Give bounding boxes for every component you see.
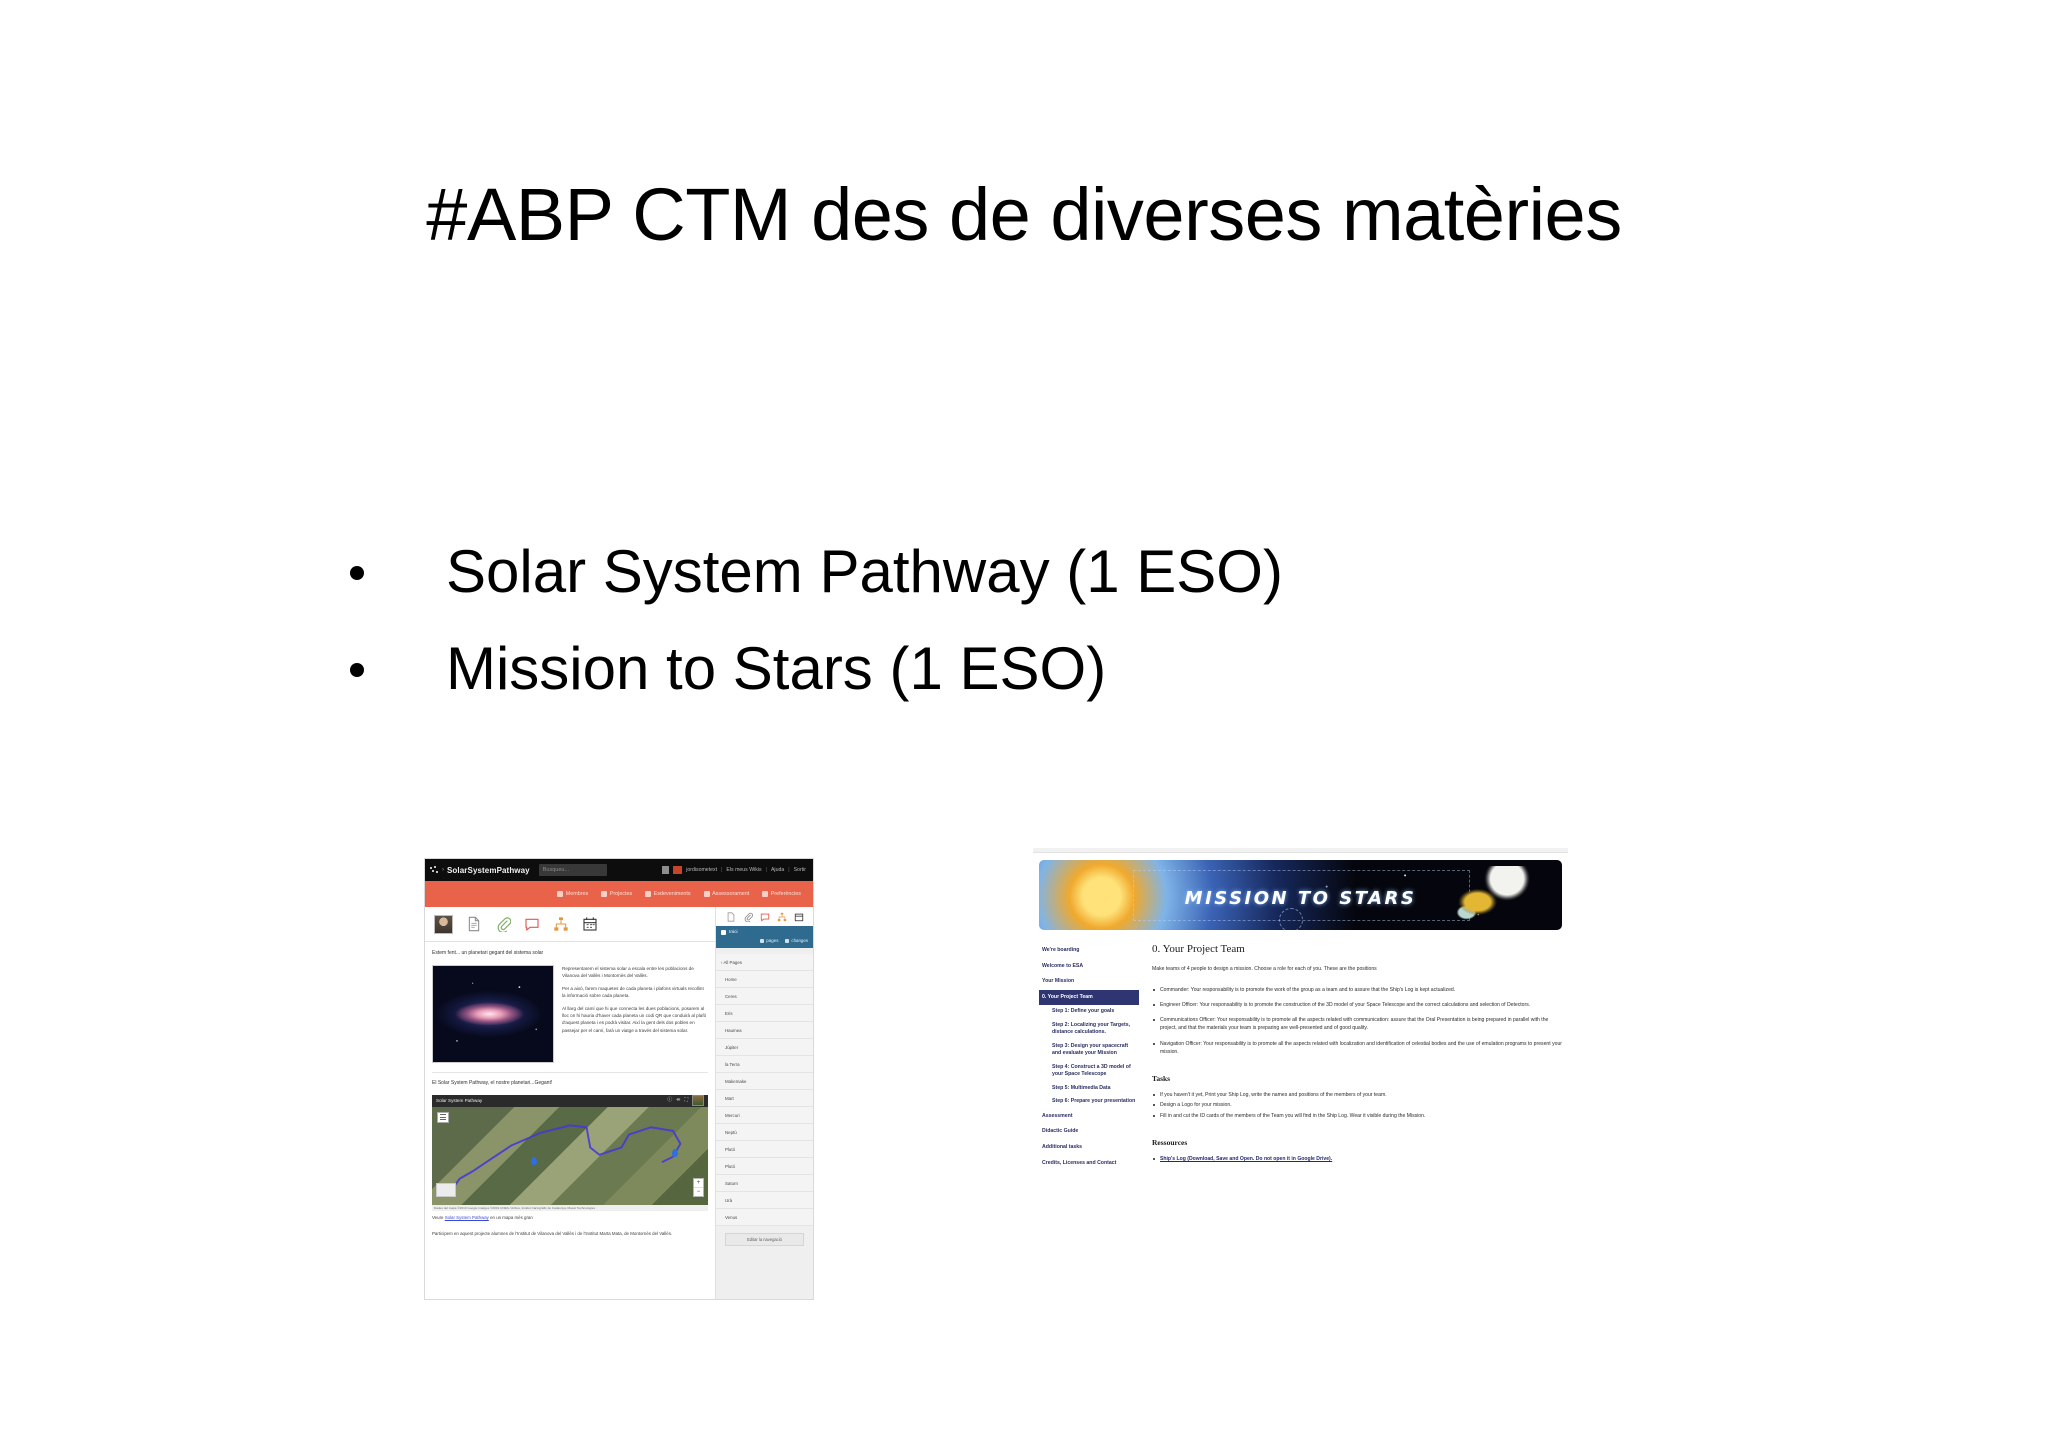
paragraph: Representarem el sistema solar a escala … — [562, 965, 708, 979]
list-item[interactable]: Mart — [716, 1090, 813, 1107]
sidebar-item-your-mission[interactable]: Your Mission — [1039, 974, 1139, 990]
wiki-body: Estem fent... un planetari gegant del si… — [425, 907, 813, 1299]
roles-list: Commander: Your responsability is to pro… — [1152, 986, 1562, 1057]
avatar-icon[interactable] — [434, 915, 453, 934]
tasks-list: If you haven't it yet, Print your Ship L… — [1152, 1091, 1562, 1120]
sitemap-icon[interactable] — [777, 912, 787, 922]
tasks-heading: Tasks — [1152, 1074, 1562, 1083]
sidebar-item-step-1[interactable]: Step 1: Define your goals — [1039, 1005, 1139, 1019]
zoom-out-button[interactable]: − — [694, 1188, 703, 1196]
map-header: Solar System Pathway ⓘ ⇚ ⛶ — [432, 1095, 708, 1107]
browser-chrome-strip — [1033, 848, 1568, 853]
my-wikis-link[interactable]: Els meus Wikis — [726, 867, 761, 873]
logout-link[interactable]: Sortir — [794, 867, 806, 873]
content-heading: Estem fent... un planetari gegant del si… — [432, 950, 708, 958]
calendar-icon — [645, 891, 651, 897]
list-item: Fill in and cut the ID cards of the memb… — [1152, 1112, 1562, 1120]
nav-label: Projectes — [610, 891, 632, 897]
sidebar-home-title-row: Inici — [721, 930, 808, 935]
wiki-brand[interactable]: SolarSystemPathway — [447, 866, 530, 875]
list-item[interactable]: la Terra — [716, 1056, 813, 1073]
search-placeholder: Busqueu... — [543, 867, 569, 873]
sidebar-panel-buttons: pages changes — [721, 938, 808, 943]
sidebar-item-additional-tasks[interactable]: Additional tasks — [1039, 1140, 1139, 1156]
projects-icon — [601, 891, 607, 897]
paperclip-icon[interactable] — [743, 912, 753, 922]
sidebar-item-assessment[interactable]: Assessment — [1039, 1109, 1139, 1125]
changes-icon — [785, 939, 789, 943]
share-icon[interactable]: ⇚ — [676, 1097, 680, 1105]
bullet-list: Solar System Pathway (1 ESO) Mission to … — [350, 540, 1750, 734]
site-banner: MISSION TO STARS — [1039, 860, 1562, 930]
map-route — [432, 1107, 708, 1197]
sidebar-item-credits[interactable]: Credits, Licenses and Contact — [1039, 1156, 1139, 1172]
map-title: Solar System Pathway — [436, 1097, 482, 1104]
list-item[interactable]: Home — [716, 971, 813, 988]
list-item[interactable]: Venus — [716, 1209, 813, 1226]
messages-icon[interactable] — [673, 866, 682, 874]
sidebar-item-didactic-guide[interactable]: Didactic Guide — [1039, 1124, 1139, 1140]
paperclip-icon[interactable] — [495, 916, 511, 932]
sidebar-item-step-5[interactable]: Step 5: Multimedia Data — [1039, 1082, 1139, 1096]
sidebar-page-list: › All Pages Home Ceres Eris Haumea Júpit… — [716, 954, 813, 1246]
banner-reticle-icon — [1279, 908, 1303, 930]
map-tools: ⓘ ⇚ ⛶ — [667, 1095, 704, 1106]
list-item[interactable]: Haumea — [716, 1022, 813, 1039]
sitemap-icon[interactable] — [553, 916, 569, 932]
calendar-icon[interactable] — [582, 916, 598, 932]
bullet-dot-icon — [350, 566, 364, 580]
comment-icon[interactable] — [524, 916, 540, 932]
gear-icon — [762, 891, 768, 897]
sidebar-item-your-project-team[interactable]: 0. Your Project Team — [1039, 990, 1139, 1006]
separator: | — [721, 867, 722, 873]
nav-label: Assessorament — [712, 891, 749, 897]
nav-label: Membres — [566, 891, 588, 897]
map-link-caption: Veure Solar System Pathway en un mapa mé… — [432, 1215, 708, 1222]
pages-button[interactable]: pages — [760, 938, 778, 943]
site-sidebar: We're boarding Welcome to ESA Your Missi… — [1039, 943, 1139, 1171]
wiki-main-column: Estem fent... un planetari gegant del si… — [425, 907, 715, 1299]
wiki-sidebar: Inici pages changes › All Pages Home Cer… — [715, 907, 813, 1299]
calendar-icon[interactable] — [794, 912, 804, 922]
map-logo — [436, 1183, 456, 1197]
separator: | — [788, 867, 789, 873]
map-thumbnail-icon[interactable] — [692, 1095, 704, 1106]
slide: #ABP CTM des de diverses matèries Solar … — [0, 0, 2048, 1447]
home-icon — [721, 930, 726, 935]
page-icon[interactable] — [466, 916, 482, 932]
galaxy-image — [432, 965, 554, 1063]
map-link-suffix: en un mapa més gran — [489, 1215, 533, 1220]
edit-navigation-button[interactable]: Editar la navegació — [725, 1233, 804, 1246]
sidebar-item-welcome-to-esa[interactable]: Welcome to ESA — [1039, 959, 1139, 975]
search-input[interactable]: Busqueu... — [539, 864, 607, 876]
page-footer-note: Participem en aquest projecte alumnes de… — [432, 1231, 708, 1238]
separator: | — [766, 867, 767, 873]
ships-log-link[interactable]: Ship's Log (Download, Save and Open. Do … — [1160, 1156, 1332, 1162]
site-main: 0. Your Project Team Make teams of 4 peo… — [1139, 943, 1562, 1171]
zoom-in-button[interactable]: + — [694, 1179, 703, 1188]
changes-button[interactable]: changes — [785, 938, 808, 943]
list-item: Engineer Officer: Your responsability is… — [1152, 1001, 1562, 1009]
nav-item-assessment[interactable]: Assessorament — [704, 891, 750, 897]
list-item[interactable]: Plutó — [716, 1158, 813, 1175]
list-item: Commander: Your responsability is to pro… — [1152, 986, 1562, 994]
map-attribution: Dades del mapa ©2019 Google Imatges ©201… — [432, 1205, 708, 1211]
nav-item-members[interactable]: Membres — [557, 891, 588, 897]
map-pin[interactable] — [672, 1149, 678, 1157]
bullet-label: Mission to Stars (1 ESO) — [446, 637, 1106, 702]
sidebar-icon-row — [716, 907, 813, 926]
nav-item-preferences[interactable]: Preferències — [762, 891, 801, 897]
user-name[interactable]: jordisometext — [686, 867, 717, 873]
bullet-dot-icon — [350, 663, 364, 677]
sidebar-item-step-2[interactable]: Step 2: Localizing your Targets, distanc… — [1039, 1019, 1139, 1040]
banner-wordmark: MISSION TO STARS — [1039, 888, 1562, 909]
list-item: If you haven't it yet, Print your Ship L… — [1152, 1091, 1562, 1099]
list-item[interactable]: Plutó — [716, 1141, 813, 1158]
sidebar-home-title: Inici — [729, 930, 738, 935]
map-link[interactable]: Solar System Pathway — [445, 1215, 489, 1220]
nav-item-projects[interactable]: Projectes — [601, 891, 632, 897]
map-link-prefix: Veure — [432, 1215, 445, 1220]
content-paragraphs: Representarem el sistema solar a escala … — [562, 965, 708, 1040]
resources-heading: Ressources — [1152, 1138, 1562, 1147]
page-icon[interactable] — [726, 912, 736, 922]
wiki-navbar: Membres Projectes Esdeveniments Assessor… — [425, 881, 813, 907]
list-item[interactable]: Saturn — [716, 1175, 813, 1192]
sidebar-home-panel: Inici pages changes — [716, 926, 813, 948]
screenshot-solar-system-pathway: › SolarSystemPathway Busqueu... jordisom… — [424, 858, 814, 1300]
list-item: Solar System Pathway (1 ESO) — [350, 540, 1750, 605]
help-link[interactable]: Ajuda — [771, 867, 784, 873]
bullet-label: Solar System Pathway (1 ESO) — [446, 540, 1283, 605]
map-zoom-controls[interactable]: + − — [693, 1178, 704, 1197]
paragraph: Per a això, farem maquetes de cada plane… — [562, 985, 708, 999]
page-toolbar — [425, 907, 715, 942]
list-item: Navigation Officer: Your responsability … — [1152, 1040, 1562, 1057]
pages-icon — [760, 939, 764, 943]
list-item: Communications Officer: Your responsabil… — [1152, 1016, 1562, 1033]
page-title: 0. Your Project Team — [1152, 943, 1562, 955]
sidebar-item-step-6[interactable]: Step 6: Prepare your presentation — [1039, 1095, 1139, 1109]
breadcrumb-caret-icon: › — [442, 867, 444, 873]
sidebar-item-were-boarding[interactable]: We're boarding — [1039, 943, 1139, 959]
assessment-icon — [704, 891, 710, 897]
wiki-logo-icon — [430, 866, 439, 875]
embedded-map[interactable]: Solar System Pathway ⓘ ⇚ ⛶ — [432, 1095, 708, 1211]
notifications-icon[interactable] — [662, 866, 669, 874]
members-icon — [557, 891, 563, 897]
content-row: Representarem el sistema solar a escala … — [432, 965, 708, 1063]
page-content: Estem fent... un planetari gegant del si… — [425, 942, 715, 1238]
map-canvas[interactable]: + − — [432, 1107, 708, 1205]
list-item[interactable]: Neptú — [716, 1124, 813, 1141]
sidebar-all-pages[interactable]: › All Pages — [716, 954, 813, 971]
topbar-right: jordisometext | Els meus Wikis | Ajuda |… — [662, 866, 808, 874]
list-item[interactable]: Makemake — [716, 1073, 813, 1090]
list-item: Design a Logo for your mission. — [1152, 1101, 1562, 1109]
lead-paragraph: Make teams of 4 people to design a missi… — [1152, 966, 1562, 974]
resources-list: Ship's Log (Download, Save and Open. Do … — [1152, 1155, 1562, 1163]
list-item[interactable]: Júpiter — [716, 1039, 813, 1056]
sidebar-item-step-4[interactable]: Step 4: Construct a 3D model of your Spa… — [1039, 1061, 1139, 1082]
nav-label: Preferències — [771, 891, 801, 897]
screenshot-mission-to-stars: MISSION TO STARS We're boarding Welcome … — [1033, 848, 1568, 1308]
map-section-heading: El Solar System Pathway, el nostre plane… — [432, 1080, 708, 1088]
site-body: We're boarding Welcome to ESA Your Missi… — [1033, 943, 1568, 1171]
list-item[interactable]: Ceres — [716, 988, 813, 1005]
paragraph: Al llarg del camí que hi que connecta le… — [562, 1005, 708, 1033]
info-icon[interactable]: ⓘ — [667, 1097, 672, 1105]
nav-item-events[interactable]: Esdeveniments — [645, 891, 690, 897]
divider — [432, 1072, 708, 1073]
list-item[interactable]: Urà — [716, 1192, 813, 1209]
list-item: Ship's Log (Download, Save and Open. Do … — [1152, 1155, 1562, 1163]
list-item[interactable]: Eris — [716, 1005, 813, 1022]
fullscreen-icon[interactable]: ⛶ — [684, 1097, 688, 1105]
list-item: Mission to Stars (1 ESO) — [350, 637, 1750, 702]
list-item[interactable]: Mercuri — [716, 1107, 813, 1124]
sidebar-item-step-3[interactable]: Step 3: Design your spacecraft and evalu… — [1039, 1040, 1139, 1061]
wiki-topbar: › SolarSystemPathway Busqueu... jordisom… — [425, 859, 813, 881]
comment-icon[interactable] — [760, 912, 770, 922]
page-title: #ABP CTM des de diverses matèries — [0, 176, 2048, 254]
nav-label: Esdeveniments — [654, 891, 691, 897]
